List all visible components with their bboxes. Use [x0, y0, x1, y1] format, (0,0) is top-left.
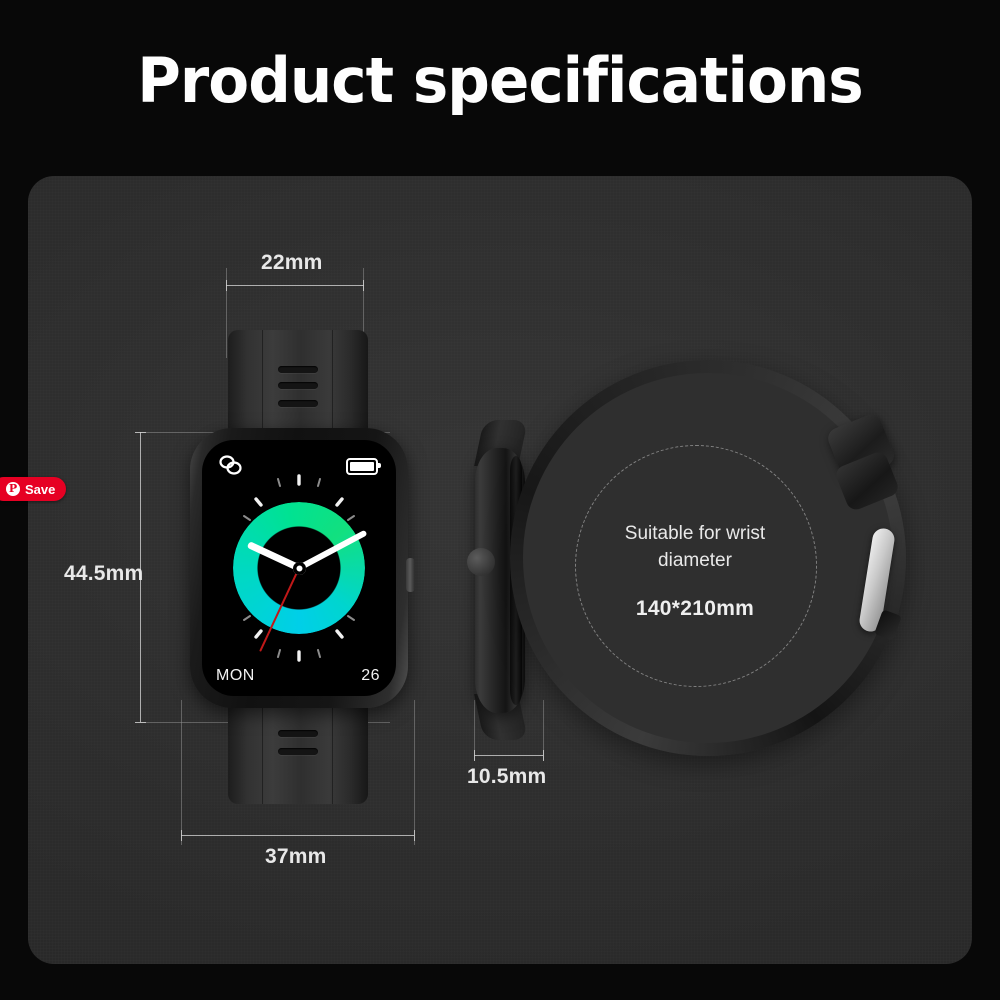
dimension-label-strap-width: 22mm: [261, 251, 323, 275]
dimension-cap-thickness-left: [474, 750, 475, 761]
hand-pivot: [293, 562, 306, 575]
dimension-cap-width-left: [181, 830, 182, 841]
watch-front-view: MON 26: [150, 330, 440, 800]
dimension-cap-strap-left: [226, 280, 227, 291]
weekday-label: MON: [216, 667, 255, 685]
dimension-line-strap-width: [226, 285, 364, 286]
date-label: 26: [361, 667, 380, 685]
dimension-cap-thickness-right: [543, 750, 544, 761]
dimension-label-case-width: 37mm: [265, 845, 327, 869]
dimension-cap-width-right: [414, 830, 415, 841]
side-crown-button[interactable]: [467, 548, 495, 576]
wrist-text-line2: diameter: [575, 547, 815, 574]
wrist-size-label: 140*210mm: [575, 597, 815, 621]
dimension-cap-height-bottom: [135, 722, 146, 723]
dimension-line-thickness: [474, 755, 543, 756]
page-title: Product specifications: [20, 44, 980, 117]
watch-strap-bottom: [228, 692, 368, 804]
pinterest-save-label: Save: [25, 482, 55, 497]
dimension-label-thickness: 10.5mm: [467, 765, 546, 789]
dimension-cap-height-top: [135, 432, 146, 433]
dimension-cap-strap-right: [363, 280, 364, 291]
pinterest-logo-icon: P: [6, 482, 20, 496]
watch-screen: MON 26: [202, 440, 396, 696]
dimension-line-case-width: [181, 835, 414, 836]
watch-case: MON 26: [190, 428, 408, 708]
dimension-label-case-height: 44.5mm: [64, 562, 143, 586]
wrist-text-line1: Suitable for wrist: [575, 520, 815, 547]
wrist-diameter-text: Suitable for wrist diameter: [575, 520, 815, 574]
pinterest-save-button[interactable]: P Save: [0, 477, 66, 501]
watch-crown-button[interactable]: [406, 558, 415, 592]
